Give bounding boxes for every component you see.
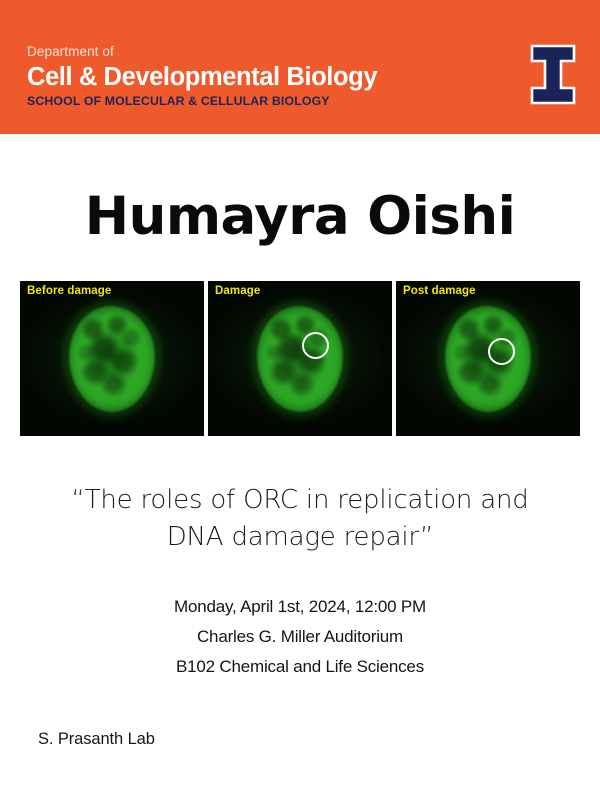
illinois-block-i-logo (530, 44, 576, 105)
microscopy-panel-before-damage: Before damage (20, 281, 204, 436)
microscopy-panel-post-damage: Post damage (396, 281, 580, 436)
header-text-block: Department of Cell & Developmental Biolo… (27, 44, 447, 109)
lab-credit: S. Prasanth Lab (38, 730, 155, 749)
event-datetime: Monday, April 1st, 2024, 12:00 PM (0, 592, 600, 622)
department-eyebrow: Department of (27, 44, 447, 60)
header-band: Department of Cell & Developmental Biolo… (0, 0, 600, 134)
department-name: Cell & Developmental Biology (27, 63, 447, 92)
school-name: SCHOOL OF MOLECULAR & CELLULAR BIOLOGY (27, 94, 447, 109)
speaker-name: Humayra Oishi (0, 186, 600, 248)
event-venue: Charles G. Miller Auditorium (0, 622, 600, 652)
microscopy-figure-strip: Before damage Damage Post damage (20, 281, 580, 436)
seminar-flyer: Department of Cell & Developmental Biolo… (0, 0, 600, 800)
panel-label-damage: Damage (215, 285, 260, 297)
panel-label-post-damage: Post damage (403, 285, 476, 297)
block-i-icon (530, 44, 576, 105)
event-building: B102 Chemical and Life Sciences (0, 652, 600, 682)
microscopy-panel-damage: Damage (208, 281, 392, 436)
panel-label-before-damage: Before damage (27, 285, 111, 297)
damage-site-circle (302, 332, 329, 359)
event-details: Monday, April 1st, 2024, 12:00 PM Charle… (0, 592, 600, 682)
talk-title: “The roles of ORC in replication and DNA… (40, 482, 560, 556)
